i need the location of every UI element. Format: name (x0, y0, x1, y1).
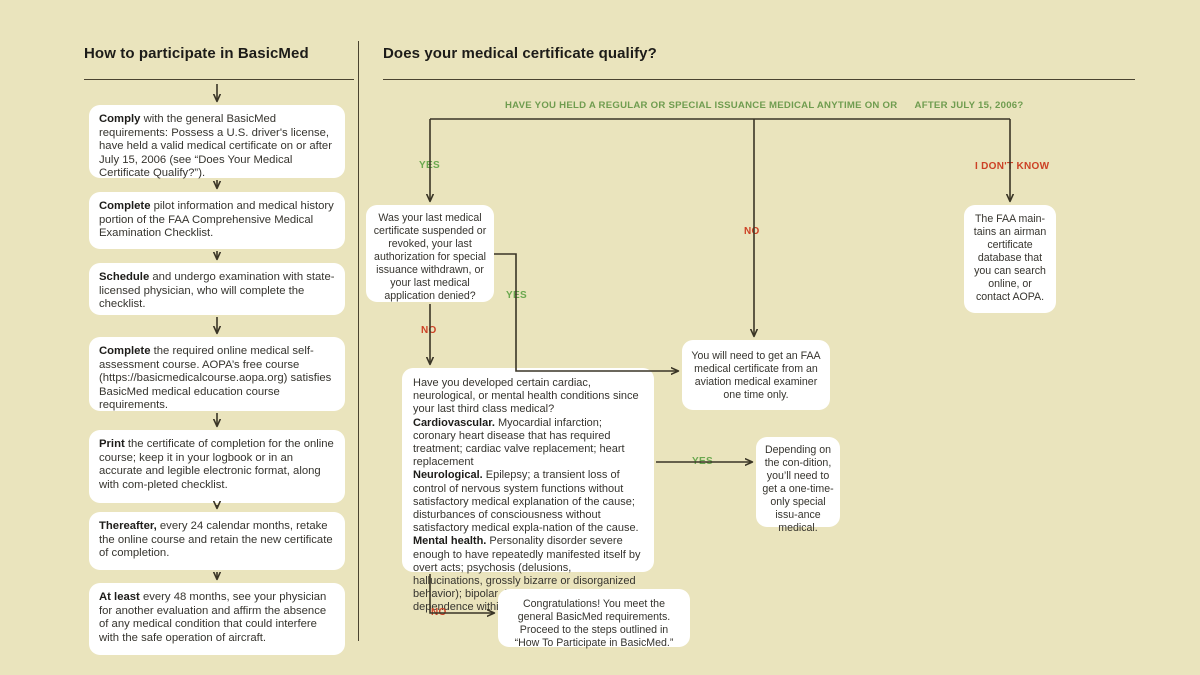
condition-lead: Mental health. (413, 535, 486, 547)
left-step-box: Complete the required online medical sel… (89, 337, 345, 411)
node-text: Congratulations! You meet the general Ba… (515, 598, 674, 649)
left-step-box: Print the certificate of completion for … (89, 430, 345, 503)
right-column-rule (383, 79, 1135, 80)
node-faa-database: The FAA main-tains an airman certificate… (964, 205, 1056, 313)
node-faa-medical: You will need to get an FAA medical cert… (682, 340, 830, 410)
condition-lead: Neurological. (413, 469, 483, 481)
node-conditions: Have you developed certain cardiac, neur… (402, 368, 654, 572)
column-divider (358, 41, 359, 641)
node-text: The FAA main-tains an airman certificate… (974, 213, 1046, 303)
left-step-box: Comply with the general BasicMed require… (89, 105, 345, 178)
edge-label-yes-suspended: YES (506, 290, 527, 301)
step-lead: Comply (99, 113, 140, 125)
left-step-box: At least every 48 months, see your physi… (89, 583, 345, 655)
left-step-box: Complete pilot information and medical h… (89, 192, 345, 249)
node-suspended-question: Was your last medical certificate suspen… (366, 205, 494, 302)
conditions-intro: Have you developed certain cardiac, neur… (413, 377, 639, 415)
condition-lead: Cardiovascular. (413, 417, 495, 429)
edge-label-no-suspended: NO (421, 325, 437, 336)
edge-label-no-root: NO (744, 226, 760, 237)
right-column-title: Does your medical certificate qualify? (383, 45, 657, 62)
node-special-issuance: Depending on the con-dition, you’ll need… (756, 437, 840, 527)
step-lead: Schedule (99, 271, 149, 283)
edge-label-i-dont-know: I DON'T KNOW (975, 161, 1049, 172)
node-text: You will need to get an FAA medical cert… (691, 350, 820, 401)
node-text: Was your last medical certificate suspen… (374, 212, 486, 302)
step-lead: Complete (99, 345, 150, 357)
root-question-label: HAVE YOU HELD A REGULAR OR SPECIAL ISSUA… (505, 100, 1024, 111)
step-text: the certificate of completion for the on… (99, 438, 334, 491)
flowchart-canvas: How to participate in BasicMed Comply wi… (0, 0, 1200, 675)
node-congratulations: Congratulations! You meet the general Ba… (498, 589, 690, 647)
edge-label-yes-root: YES (419, 160, 440, 171)
edge-label-no-conditions: NO (431, 607, 447, 618)
left-step-box: Schedule and undergo examination with st… (89, 263, 345, 315)
step-lead: Complete (99, 200, 150, 212)
left-column-rule (84, 79, 354, 80)
node-text: Depending on the con-dition, you’ll need… (762, 444, 833, 534)
edge-label-yes-conditions: YES (692, 456, 713, 467)
step-lead: Print (99, 438, 125, 450)
left-column-title: How to participate in BasicMed (84, 45, 309, 62)
step-lead: Thereafter, (99, 520, 157, 532)
left-step-box: Thereafter, every 24 calendar months, re… (89, 512, 345, 570)
step-lead: At least (99, 591, 140, 603)
